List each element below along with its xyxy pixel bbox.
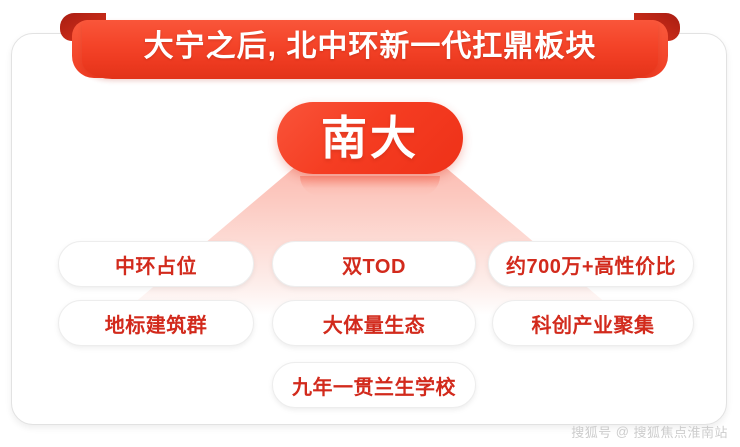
header-ribbon: 大宁之后, 北中环新一代扛鼎板块: [60, 13, 680, 79]
feature-pill-label: 大体量生态: [323, 309, 426, 338]
at-symbol-icon: @: [616, 424, 630, 439]
feature-pill: 中环占位: [58, 241, 254, 287]
feature-pill: 大体量生态: [272, 300, 476, 346]
feature-pill: 约700万+高性价比: [488, 241, 694, 287]
feature-pill-label: 中环占位: [115, 250, 197, 279]
feature-pill-label: 约700万+高性价比: [506, 250, 676, 279]
project-badge-label: 南大: [321, 115, 419, 161]
feature-pill-label: 科创产业聚集: [532, 309, 655, 338]
watermark-account: 搜狐焦点淮南站: [633, 422, 728, 441]
funnel-shape: [120, 150, 620, 315]
feature-pill-label: 双TOD: [342, 250, 406, 279]
watermark: 搜狐号 @ 搜狐焦点淮南站: [571, 422, 728, 441]
watermark-prefix: 搜狐号: [571, 422, 612, 441]
infographic-stage: 大宁之后, 北中环新一代扛鼎板块 南大 中环占位 双TOD 约700万+高性价比…: [0, 0, 740, 447]
feature-pill: 科创产业聚集: [492, 300, 694, 346]
feature-pill: 双TOD: [272, 241, 476, 287]
feature-pill-label: 地标建筑群: [105, 309, 208, 338]
project-badge: 南大: [277, 102, 463, 174]
banner-title: 大宁之后, 北中环新一代扛鼎板块: [60, 13, 680, 79]
feature-pill-label: 九年一贯兰生学校: [292, 371, 456, 400]
funnel-graphic: [120, 150, 620, 315]
feature-pill: 九年一贯兰生学校: [272, 362, 476, 408]
badge-reflection: [300, 176, 440, 196]
feature-pill: 地标建筑群: [58, 300, 254, 346]
